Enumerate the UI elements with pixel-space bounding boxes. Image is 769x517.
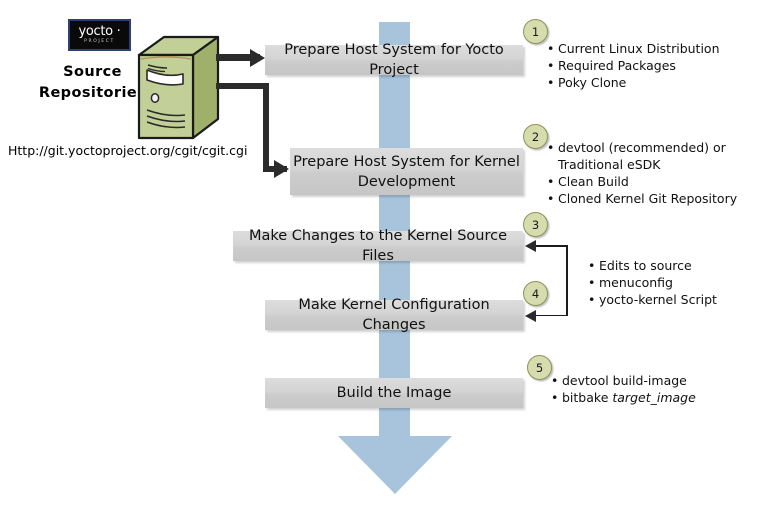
list-item: Current Linux Distribution <box>558 40 760 57</box>
connector-to-step1-arrowhead <box>250 49 265 67</box>
step34-bracket-vertical <box>566 245 568 316</box>
step-3-number: 3 <box>532 218 539 232</box>
step-4-box-label: Make Kernel Configuration Changes <box>265 295 523 335</box>
list-item: Required Packages <box>558 57 760 74</box>
step3-arrowhead <box>525 240 536 252</box>
step-4-box[interactable]: Make Kernel Configuration Changes <box>265 300 523 330</box>
step5-bullet-2-prefix: bitbake <box>562 390 612 405</box>
yocto-logo-subtitle: PROJECT <box>84 39 115 45</box>
main-flow-arrow-head <box>338 436 452 494</box>
step-5-box-label: Build the Image <box>337 383 452 403</box>
step34-bracket-top-line <box>534 245 567 247</box>
list-item: devtool (recommended) or Traditional eSD… <box>558 139 763 173</box>
step-3-box[interactable]: Make Changes to the Kernel Source Files <box>233 231 523 261</box>
yocto-project-logo: yocto · PROJECT <box>68 19 131 51</box>
step34-bracket-bottom-line <box>534 315 567 317</box>
list-item: devtool build-image <box>562 372 754 389</box>
step-1-box[interactable]: Prepare Host System for Yocto Project <box>265 45 523 75</box>
list-item: Edits to source <box>599 257 761 274</box>
connector-to-step2-segment-2 <box>263 83 269 172</box>
step34-bullet-list: Edits to source menuconfig yocto-kernel … <box>586 257 761 308</box>
diagram-canvas: yocto · PROJECT Source Repositories Http… <box>0 0 769 517</box>
step4-arrowhead <box>525 310 536 322</box>
step5-bullet-2-italic: target_image <box>612 390 695 405</box>
connector-to-step2-segment-1 <box>216 83 269 89</box>
step-4-number-badge: 4 <box>523 281 548 306</box>
step-2-box-label: Prepare Host System for Kernel Developme… <box>290 152 523 192</box>
step-2-box[interactable]: Prepare Host System for Kernel Developme… <box>290 148 523 195</box>
step-2-number: 2 <box>532 130 539 144</box>
list-item: menuconfig <box>599 274 761 291</box>
list-item: bitbake target_image <box>562 389 754 406</box>
step5-bullet-1-text: devtool build-image <box>562 373 687 388</box>
step-3-number-badge: 3 <box>523 212 548 237</box>
source-repository-url: Http://git.yoctoproject.org/cgit/cgit.cg… <box>8 143 247 158</box>
list-item: yocto-kernel Script <box>599 291 761 308</box>
step-5-box[interactable]: Build the Image <box>265 378 523 408</box>
step-5-bullet-list: devtool build-image bitbake target_image <box>549 372 754 406</box>
list-item: Cloned Kernel Git Repository <box>558 190 763 207</box>
list-item: Poky Clone <box>558 74 760 91</box>
step-1-bullet-list: Current Linux Distribution Required Pack… <box>545 40 760 91</box>
step-5-number: 5 <box>536 361 543 375</box>
step-1-box-label: Prepare Host System for Yocto Project <box>265 40 523 80</box>
step-3-box-label: Make Changes to the Kernel Source Files <box>233 226 523 266</box>
yocto-logo-wordmark: yocto · <box>78 25 120 38</box>
server-icon <box>136 35 220 141</box>
list-item: Clean Build <box>558 173 763 190</box>
step-4-number: 4 <box>532 287 539 301</box>
step-1-number: 1 <box>532 25 539 39</box>
step-2-bullet-list: devtool (recommended) or Traditional eSD… <box>545 139 763 207</box>
connector-to-step2-arrowhead <box>274 160 289 178</box>
